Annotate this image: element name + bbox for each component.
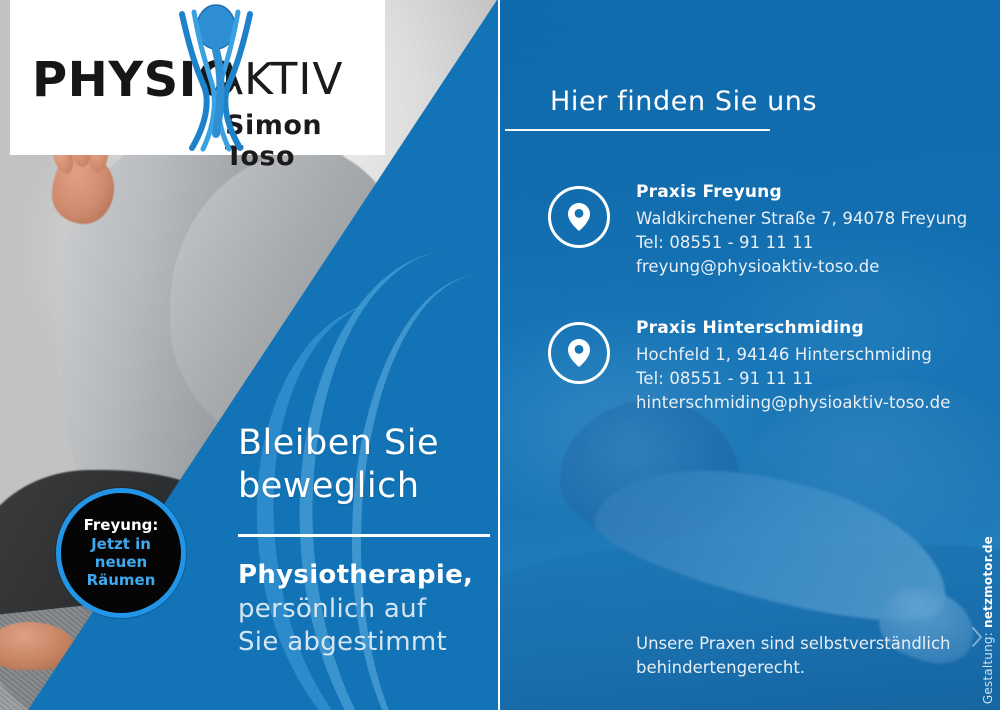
headline-line-1: Bleiben Sie [238, 422, 498, 465]
poster-root: Bleiben Sie beweglich Physiotherapie, pe… [0, 0, 1000, 710]
subheadline-strong: Physiotherapie, [238, 559, 498, 592]
promo-badge[interactable]: Freyung: Jetzt in neuen Räumen [56, 488, 186, 618]
map-pin-icon [548, 322, 610, 384]
physio-aktiv-figure-logo-icon [170, 2, 262, 152]
map-pin-icon [548, 186, 610, 248]
accessibility-note-line-2: behindertengerecht. [636, 656, 951, 680]
right-panel-title: Hier finden Sie uns [550, 86, 817, 117]
headline-line-2: beweglich [238, 465, 498, 508]
badge-line-1: Freyung: [84, 517, 159, 534]
right-panel-title-rule [505, 129, 770, 131]
accessibility-note: Unsere Praxen sind selbstverständlich be… [636, 632, 951, 680]
right-panel: Hier finden Sie uns Praxis Freyung Waldk… [500, 0, 1000, 710]
location-name: Praxis Freyung [636, 182, 967, 202]
location-phone[interactable]: Tel: 08551 - 91 11 11 [636, 367, 950, 391]
subheadline-light-2: Sie abgestimmt [238, 626, 498, 659]
design-credit[interactable]: Gestaltung: netzmotor.de [981, 536, 995, 704]
badge-line-2: Jetzt in [91, 535, 151, 553]
subheadline-light-1: persönlich auf [238, 593, 498, 626]
design-credit-name: netzmotor.de [981, 536, 995, 628]
location-street: Waldkirchener Straße 7, 94078 Freyung [636, 207, 967, 231]
location-street: Hochfeld 1, 94146 Hinterschmiding [636, 343, 950, 367]
logo-box[interactable]: PHYSIO AKTIV Simon Toso [10, 0, 385, 155]
photo-hand-shape [52, 152, 114, 224]
location-email[interactable]: freyung@physioaktiv-toso.de [636, 255, 967, 279]
accessibility-note-line-1: Unsere Praxen sind selbstverständlich [636, 632, 951, 656]
location-phone[interactable]: Tel: 08551 - 91 11 11 [636, 231, 967, 255]
badge-line-4: Räumen [87, 571, 156, 589]
location-email[interactable]: hinterschmiding@physioaktiv-toso.de [636, 391, 950, 415]
panel-divider [498, 0, 500, 710]
headline-divider [238, 534, 490, 537]
left-copy-block: Bleiben Sie beweglich Physiotherapie, pe… [238, 422, 498, 659]
right-content: Hier finden Sie uns Praxis Freyung Waldk… [500, 0, 1000, 710]
location-item-hinterschmiding[interactable]: Praxis Hinterschmiding Hochfeld 1, 94146… [548, 316, 950, 414]
location-text-block: Praxis Freyung Waldkirchener Straße 7, 9… [636, 180, 967, 278]
location-item-freyung[interactable]: Praxis Freyung Waldkirchener Straße 7, 9… [548, 180, 967, 278]
location-text-block: Praxis Hinterschmiding Hochfeld 1, 94146… [636, 316, 950, 414]
location-name: Praxis Hinterschmiding [636, 318, 950, 338]
badge-line-3: neuen [95, 553, 147, 571]
design-credit-prefix: Gestaltung: [981, 628, 995, 704]
